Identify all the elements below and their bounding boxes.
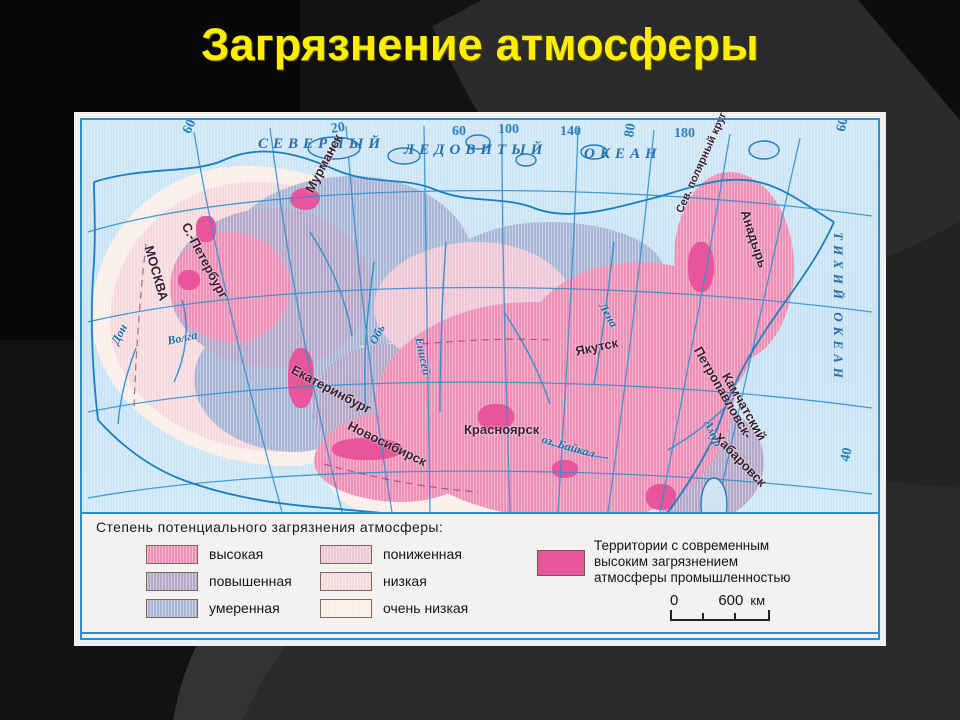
page-title: Загрязнение атмосферы xyxy=(0,21,960,68)
pollution-map-figure: СЕВЕРНЫЙ ЛЕДОВИТЫЙ ОКЕАН ТИХИЙ ОКЕАН Сев… xyxy=(74,112,886,646)
map-frame-border xyxy=(80,118,880,640)
